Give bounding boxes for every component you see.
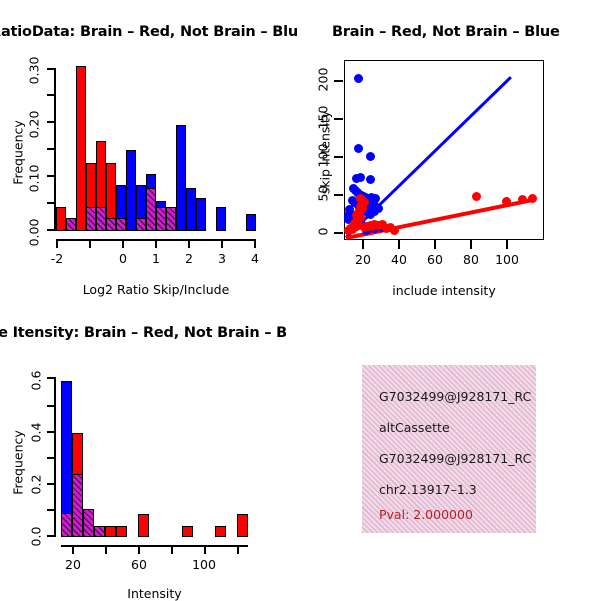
- panel-intensity-ylabel: Frequency: [11, 428, 26, 498]
- ratio-ytick-0: 0.00: [27, 216, 42, 250]
- panel-scatter-xlabel: include intensity: [344, 283, 544, 298]
- ratio-xtick-mark-1: [89, 239, 91, 248]
- intensity-ytick-mark-h3: [47, 405, 55, 407]
- scatter-ytick-mark-0: [334, 232, 343, 234]
- bar-blue-7: [186, 188, 196, 231]
- bar-blue-10: [246, 214, 256, 231]
- ratio-ytick-2: 0.20: [27, 108, 42, 142]
- ratio-ytick-mark-h1: [47, 202, 55, 204]
- bar-overlap-6: [146, 188, 156, 231]
- bar-overlap-4: [116, 218, 126, 231]
- ratio-ytick-mark-1: [47, 175, 55, 177]
- panel-ratio-ylabel: Frequency: [11, 118, 26, 188]
- intensity-ytick-3: 0.6: [29, 367, 44, 395]
- panel-scatter-title: Brain – Red, Not Brain – Blue: [332, 24, 560, 40]
- info-line-pval: Pval: 2.000000: [379, 507, 473, 522]
- scatter-ytick-mark-1: [334, 194, 343, 196]
- info-line-probe-id: G7032499@J928171_RC: [379, 389, 531, 404]
- bar-red-0: [56, 207, 66, 231]
- intensity-ytick-mark-0: [47, 535, 55, 537]
- bar-overlap-3: [106, 218, 116, 231]
- intensity-xtick-mark-2: [138, 545, 140, 554]
- scatter-ytick-mark-2: [334, 156, 343, 158]
- intensity-ytick-mark-1: [47, 483, 55, 485]
- scatter-point: [366, 175, 375, 184]
- bar-overlap-0: [66, 218, 76, 231]
- panel-scatter: Brain – Red, Not Brain – Blue skip inten…: [300, 0, 600, 305]
- ratio-xtick-mark-2: [122, 239, 124, 248]
- intensity-ytick-mark-h1: [47, 509, 55, 511]
- scatter-xtick-mark-0: [362, 240, 364, 249]
- ratio-xtick-label-4: 3: [207, 251, 237, 266]
- intensity-x-axis: [61, 545, 248, 547]
- scatter-point: [502, 197, 511, 206]
- ratio-xtick-mark-6: [254, 239, 256, 248]
- scatter-ytick-mark-3: [334, 118, 343, 120]
- bar-overlap-7: [156, 207, 166, 231]
- scatter-point: [356, 194, 365, 203]
- bar-int-red-6: [138, 514, 149, 537]
- scatter-xtick-label-1: 40: [384, 252, 414, 267]
- intensity-xtick-mark-3: [171, 545, 173, 554]
- bar-int-red-8: [215, 526, 226, 537]
- intensity-xtick-label-1: 60: [124, 557, 154, 572]
- bar-overlap-1: [86, 207, 96, 231]
- bar-blue-8: [196, 198, 206, 231]
- bar-int-red-5: [116, 526, 127, 537]
- scatter-point: [354, 74, 363, 83]
- ratio-xtick-label-1: 0: [108, 251, 138, 266]
- intensity-ytick-1: 0.2: [29, 471, 44, 499]
- panel-intensity-title: ne Itensity: Brain – Red, Not Brain – B: [0, 325, 287, 341]
- panel-ratio-xlabel: Log2 Ratio Skip/Include: [56, 282, 256, 297]
- figure-page: RatioData: Brain – Red, Not Brain – Blu …: [0, 0, 600, 600]
- ratio-ytick-3: 0.30: [27, 54, 42, 88]
- ratio-ytick-mark-0: [47, 229, 55, 231]
- scatter-ytick-1: 50: [316, 175, 331, 213]
- bar-int-overlap-2: [83, 509, 94, 537]
- bar-overlap-5: [136, 218, 146, 231]
- bar-blue-9: [216, 207, 226, 231]
- ratio-ytick-mark-h3: [47, 94, 55, 96]
- intensity-ytick-mark-2: [47, 431, 55, 433]
- intensity-ytick-2: 0.4: [29, 419, 44, 447]
- panel-info: G7032499@J928171_RC altCassette G7032499…: [300, 305, 600, 600]
- ratio-xtick-label-3: 2: [174, 251, 204, 266]
- bar-red-2: [76, 66, 86, 231]
- intensity-xtick-mark-4: [204, 545, 206, 554]
- scatter-point: [518, 195, 527, 204]
- intensity-ytick-mark-3: [47, 377, 55, 379]
- scatter-ytick-3: 150: [316, 96, 331, 140]
- ratio-ytick-mark-h2: [47, 148, 55, 150]
- bar-overlap-8: [166, 207, 176, 231]
- scatter-point: [354, 144, 363, 153]
- scatter-xtick-label-3: 80: [456, 252, 486, 267]
- ratio-ytick-mark-3: [47, 68, 55, 70]
- intensity-xtick-mark-5: [237, 545, 239, 554]
- info-line-locus: chr2.13917–1.3: [379, 482, 477, 497]
- scatter-xtick-label-2: 60: [420, 252, 450, 267]
- scatter-ytick-0: 0: [316, 217, 331, 247]
- panel-intensity-xlabel: Intensity: [61, 586, 248, 601]
- scatter-xtick-mark-2: [434, 240, 436, 249]
- scatter-xtick-label-0: 20: [348, 252, 378, 267]
- scatter-point: [472, 192, 481, 201]
- scatter-xtick-mark-4: [506, 240, 508, 249]
- ratio-xtick-mark-3: [155, 239, 157, 248]
- ratio-xtick-mark-0: [56, 239, 58, 248]
- intensity-ytick-mark-h2: [47, 457, 55, 459]
- ratio-xtick-mark-4: [188, 239, 190, 248]
- ratio-ytick-1: 0.10: [27, 162, 42, 196]
- info-line-probe-id-2: G7032499@J928171_RC: [379, 451, 531, 466]
- scatter-ytick-4: 200: [316, 58, 331, 102]
- bar-int-red-7: [182, 526, 193, 537]
- ratio-ytick-mark-2: [47, 121, 55, 123]
- intensity-ytick-0: 0.0: [29, 523, 44, 551]
- scatter-xtick-label-4: 100: [492, 252, 522, 267]
- ratio-xtick-label-0: -2: [42, 251, 72, 266]
- scatter-point: [366, 152, 375, 161]
- bar-blue-6: [176, 125, 186, 231]
- info-box: G7032499@J928171_RC altCassette G7032499…: [362, 365, 536, 533]
- bar-int-red-9: [237, 514, 248, 537]
- intensity-xtick-mark-0: [72, 545, 74, 554]
- ratio-xtick-label-5: 4: [240, 251, 270, 266]
- bar-int-overlap-1: [72, 474, 83, 537]
- scatter-xtick-mark-1: [398, 240, 400, 249]
- panel-ratio-title: RatioData: Brain – Red, Not Brain – Blu: [0, 24, 298, 40]
- ratio-xtick-label-2: 1: [141, 251, 171, 266]
- intensity-xtick-mark-1: [105, 545, 107, 554]
- info-line-event-type: altCassette: [379, 420, 450, 435]
- scatter-point: [528, 194, 537, 203]
- intensity-xtick-label-0: 20: [58, 557, 88, 572]
- scatter-point: [356, 173, 365, 182]
- scatter-point: [390, 226, 399, 235]
- scatter-ytick-2: 100: [316, 134, 331, 178]
- scatter-xtick-mark-3: [470, 240, 472, 249]
- scatter-ytick-mark-4: [334, 80, 343, 82]
- bar-int-overlap-0: [61, 513, 72, 537]
- panel-intensity-histogram: ne Itensity: Brain – Red, Not Brain – B …: [0, 305, 300, 600]
- bar-int-red-4: [105, 526, 116, 537]
- ratio-xtick-mark-5: [221, 239, 223, 248]
- panel-ratio-histogram: RatioData: Brain – Red, Not Brain – Blu …: [0, 0, 300, 305]
- bar-int-overlap-3: [94, 526, 105, 537]
- bar-overlap-2: [96, 207, 106, 231]
- bar-blue-1: [126, 150, 136, 231]
- intensity-xtick-label-2: 100: [189, 557, 219, 572]
